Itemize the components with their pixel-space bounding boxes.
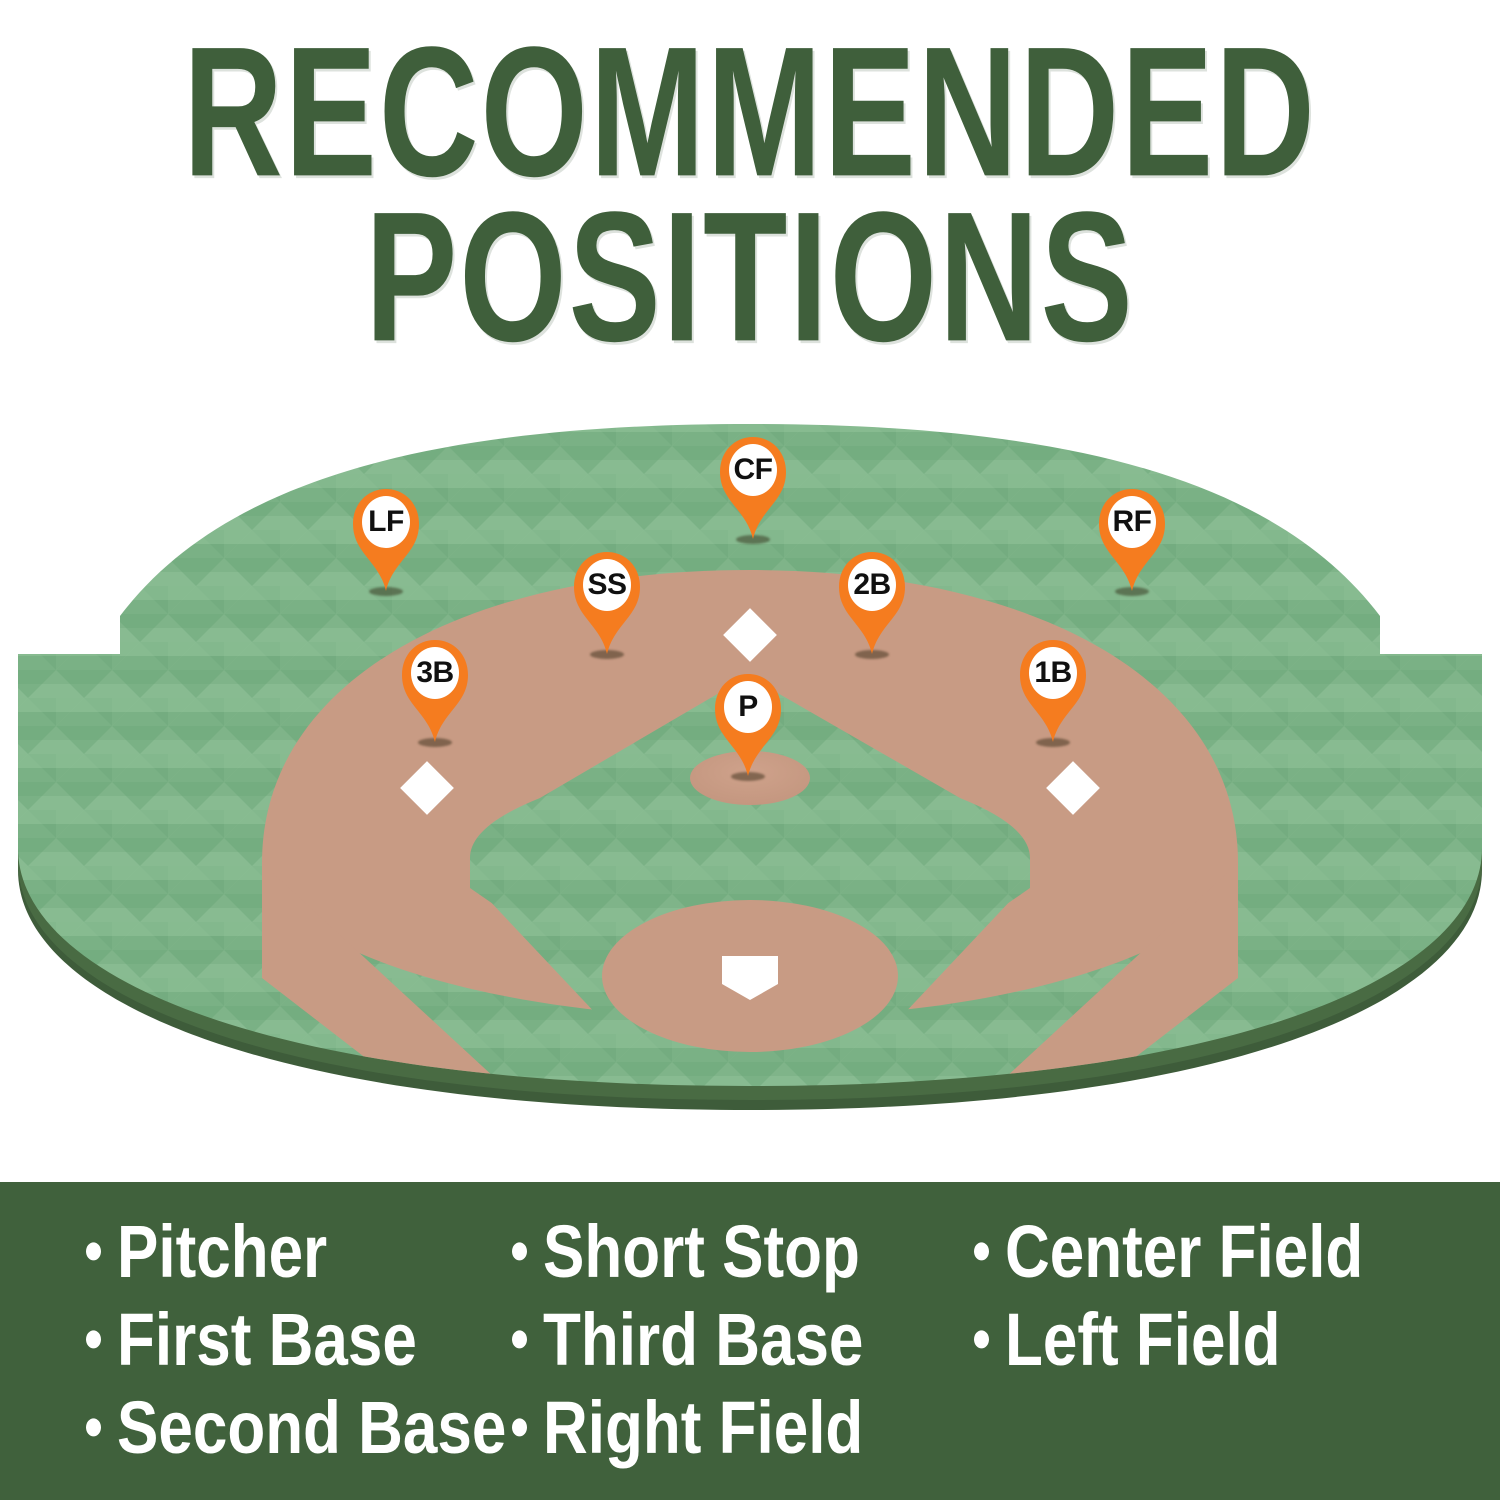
bullet-icon	[512, 1242, 527, 1260]
legend-item-label: Center Field	[1005, 1216, 1363, 1290]
position-pin-second-base[interactable]: 2B	[835, 550, 909, 654]
bullet-icon	[86, 1330, 101, 1348]
legend-item-label: Right Field	[543, 1392, 863, 1466]
pin-label-short-stop: SS	[570, 563, 644, 607]
pin-label-third-base: 3B	[398, 651, 472, 695]
legend-item-label: Second Base	[117, 1392, 506, 1466]
bullet-icon	[974, 1242, 989, 1260]
legend-item-label: Third Base	[543, 1304, 863, 1378]
pin-label-first-base: 1B	[1016, 651, 1090, 695]
pin-label-pitcher: P	[711, 685, 785, 729]
legend-item-label: First Base	[117, 1304, 417, 1378]
legend-item: Pitcher	[86, 1216, 500, 1290]
positions-legend-panel: PitcherFirst BaseSecond Base Short StopT…	[0, 1182, 1500, 1500]
legend-item-label: Short Stop	[543, 1216, 860, 1290]
position-pin-left-field[interactable]: LF	[349, 487, 423, 591]
legend-item: Center Field	[974, 1216, 1500, 1290]
pin-label-right-field: RF	[1095, 500, 1169, 544]
pin-label-center-field: CF	[716, 448, 790, 492]
legend-column-1: PitcherFirst BaseSecond Base	[0, 1216, 500, 1480]
bullet-icon	[512, 1330, 527, 1348]
legend-item: Second Base	[86, 1392, 500, 1466]
position-pin-short-stop[interactable]: SS	[570, 550, 644, 654]
bullet-icon	[974, 1330, 989, 1348]
legend-item: First Base	[86, 1304, 500, 1378]
legend-item-label: Left Field	[1005, 1304, 1281, 1378]
position-pin-center-field[interactable]: CF	[716, 435, 790, 539]
legend-item-label: Pitcher	[117, 1216, 327, 1290]
position-pin-pitcher[interactable]: P	[711, 672, 785, 776]
position-pin-right-field[interactable]: RF	[1095, 487, 1169, 591]
legend-column-3: Center FieldLeft Field	[960, 1216, 1500, 1392]
bullet-icon	[86, 1418, 101, 1436]
bullet-icon	[512, 1418, 527, 1436]
title-line-positions: POSITIONS	[0, 193, 1500, 363]
position-pin-first-base[interactable]: 1B	[1016, 638, 1090, 742]
bullet-icon	[86, 1242, 101, 1260]
legend-item: Right Field	[512, 1392, 960, 1466]
legend-column-2: Short StopThird BaseRight Field	[500, 1216, 960, 1480]
baseball-field-diagram: LFCFRFSS2B3B1BP	[0, 418, 1500, 1148]
title-line-recommended: RECOMMENDED	[0, 28, 1500, 198]
pin-label-left-field: LF	[349, 500, 423, 544]
page-title: RECOMMENDED POSITIONS	[0, 28, 1500, 320]
legend-item: Third Base	[512, 1304, 960, 1378]
pin-label-second-base: 2B	[835, 563, 909, 607]
legend-item: Short Stop	[512, 1216, 960, 1290]
position-pin-third-base[interactable]: 3B	[398, 638, 472, 742]
legend-item: Left Field	[974, 1304, 1500, 1378]
